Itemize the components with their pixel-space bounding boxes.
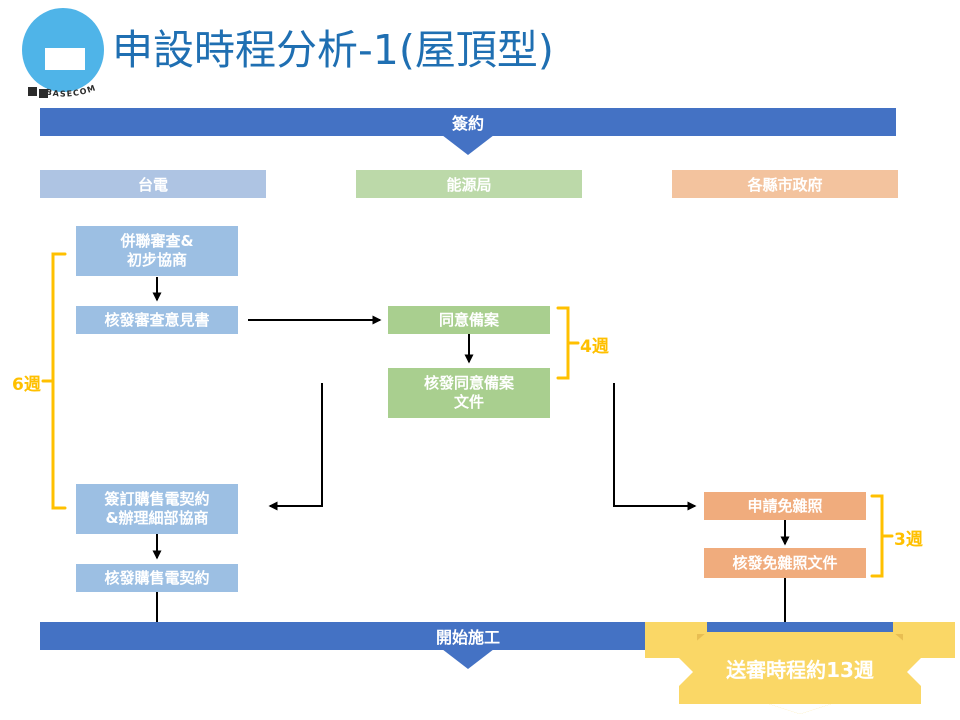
column-header-energy-label: 能源局 bbox=[446, 174, 491, 195]
page-title: 申設時程分析-1(屋頂型) bbox=[112, 28, 554, 73]
bottom-banner-chevron-icon bbox=[442, 649, 494, 669]
process-box-t4[interactable]: 核發購售電契約 bbox=[76, 564, 238, 592]
process-box-c2-label: 核發免雜照文件 bbox=[732, 554, 837, 573]
process-box-t4-label: 核發購售電契約 bbox=[104, 569, 209, 588]
column-header-county: 各縣市政府 bbox=[672, 170, 898, 198]
process-box-e1[interactable]: 同意備案 bbox=[388, 306, 550, 334]
bracket-label-3-weeks: 3週 bbox=[894, 525, 923, 550]
bottom-banner-label: 開始施工 bbox=[436, 624, 500, 648]
bracket-label-4-weeks: 4週 bbox=[580, 332, 609, 357]
process-box-e2-label: 核發同意備案 文件 bbox=[424, 374, 514, 412]
basecom-logo: BASECOM bbox=[16, 6, 112, 102]
ribbon-label: 送審時程約13週 bbox=[645, 654, 955, 683]
column-header-taipower: 台電 bbox=[40, 170, 266, 198]
process-box-c2[interactable]: 核發免雜照文件 bbox=[704, 548, 866, 578]
process-box-e1-label: 同意備案 bbox=[439, 311, 499, 330]
logo-wordmark: BASECOM bbox=[20, 82, 112, 104]
process-box-t3[interactable]: 簽訂購售電契約 &辦理細部協商 bbox=[76, 484, 238, 534]
column-header-county-label: 各縣市政府 bbox=[747, 174, 822, 195]
slide-canvas: BASECOM 申設時程分析-1(屋頂型) 簽約 台電 能源局 各縣市政府 bbox=[0, 0, 960, 720]
process-box-t2-label: 核發審查意見書 bbox=[104, 311, 209, 330]
bracket-label-6-weeks: 6週 bbox=[12, 370, 41, 395]
top-banner-signing: 簽約 bbox=[40, 108, 896, 136]
top-banner-label: 簽約 bbox=[452, 110, 484, 134]
process-box-e2[interactable]: 核發同意備案 文件 bbox=[388, 368, 550, 418]
process-box-t1[interactable]: 併聯審查& 初步協商 bbox=[76, 226, 238, 276]
logo-bar-icon bbox=[45, 48, 85, 70]
process-box-c1-label: 申請免雜照 bbox=[747, 497, 822, 516]
column-header-taipower-label: 台電 bbox=[138, 174, 168, 195]
ribbon-banner: 送審時程約13週 bbox=[645, 618, 955, 714]
process-box-c1[interactable]: 申請免雜照 bbox=[704, 492, 866, 520]
column-header-energy: 能源局 bbox=[356, 170, 582, 198]
svg-text:BASECOM: BASECOM bbox=[45, 83, 98, 98]
process-box-t2[interactable]: 核發審查意見書 bbox=[76, 306, 238, 334]
top-banner-chevron-icon bbox=[442, 135, 494, 155]
process-box-t3-label: 簽訂購售電契約 &辦理細部協商 bbox=[104, 490, 209, 528]
process-box-t1-label: 併聯審查& 初步協商 bbox=[120, 232, 193, 270]
